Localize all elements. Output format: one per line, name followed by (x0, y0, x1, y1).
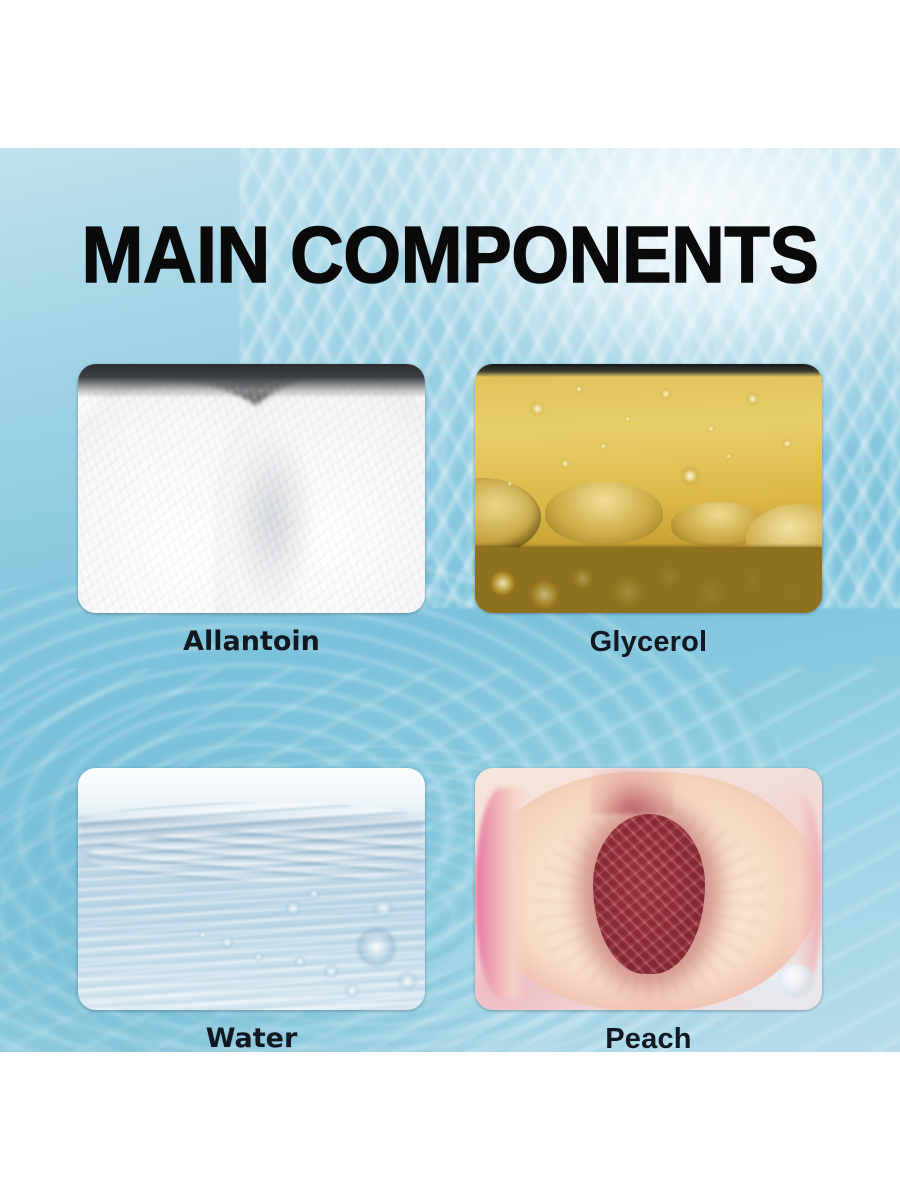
peach-pit-cavity (593, 814, 705, 974)
component-card-glycerol[interactable]: Glycerol (475, 364, 822, 659)
component-card-peach[interactable]: Peach (475, 768, 822, 1056)
halved-peach-photo (475, 768, 822, 1010)
component-label-glycerol: Glycerol (475, 625, 822, 659)
golden-oil-bubbles-photo (475, 364, 822, 613)
peach-water-bubble (780, 964, 814, 998)
component-label-allantoin: Allantoin (78, 625, 425, 659)
peach-skin-left (475, 788, 527, 998)
component-image-allantoin (78, 364, 425, 613)
powder-grain-texture (78, 364, 425, 613)
oil-bubble-froth-bottom (475, 547, 822, 613)
component-card-water[interactable]: Water (78, 768, 425, 1056)
component-label-peach: Peach (475, 1022, 822, 1056)
peach-pit-texture (593, 814, 705, 974)
component-card-allantoin[interactable]: Allantoin (78, 364, 425, 659)
water-surface-waves-photo (78, 768, 425, 1010)
white-powder-photo (78, 364, 425, 613)
component-label-water: Water (78, 1022, 425, 1056)
component-image-water (78, 768, 425, 1010)
powder-dark-top-band (78, 364, 425, 398)
component-image-peach (475, 768, 822, 1010)
oil-dark-top-band (475, 364, 822, 377)
product-infographic: MAIN COMPONENTS Allantoin (0, 0, 900, 1200)
component-image-glycerol (475, 364, 822, 613)
components-row-top: Allantoin Glycerol (78, 364, 822, 659)
components-row-bottom: Water (78, 768, 822, 1056)
water-droplets (78, 768, 425, 1010)
components-grid: Allantoin Glycerol (78, 364, 822, 1056)
page-title: MAIN COMPONENTS (32, 212, 869, 298)
